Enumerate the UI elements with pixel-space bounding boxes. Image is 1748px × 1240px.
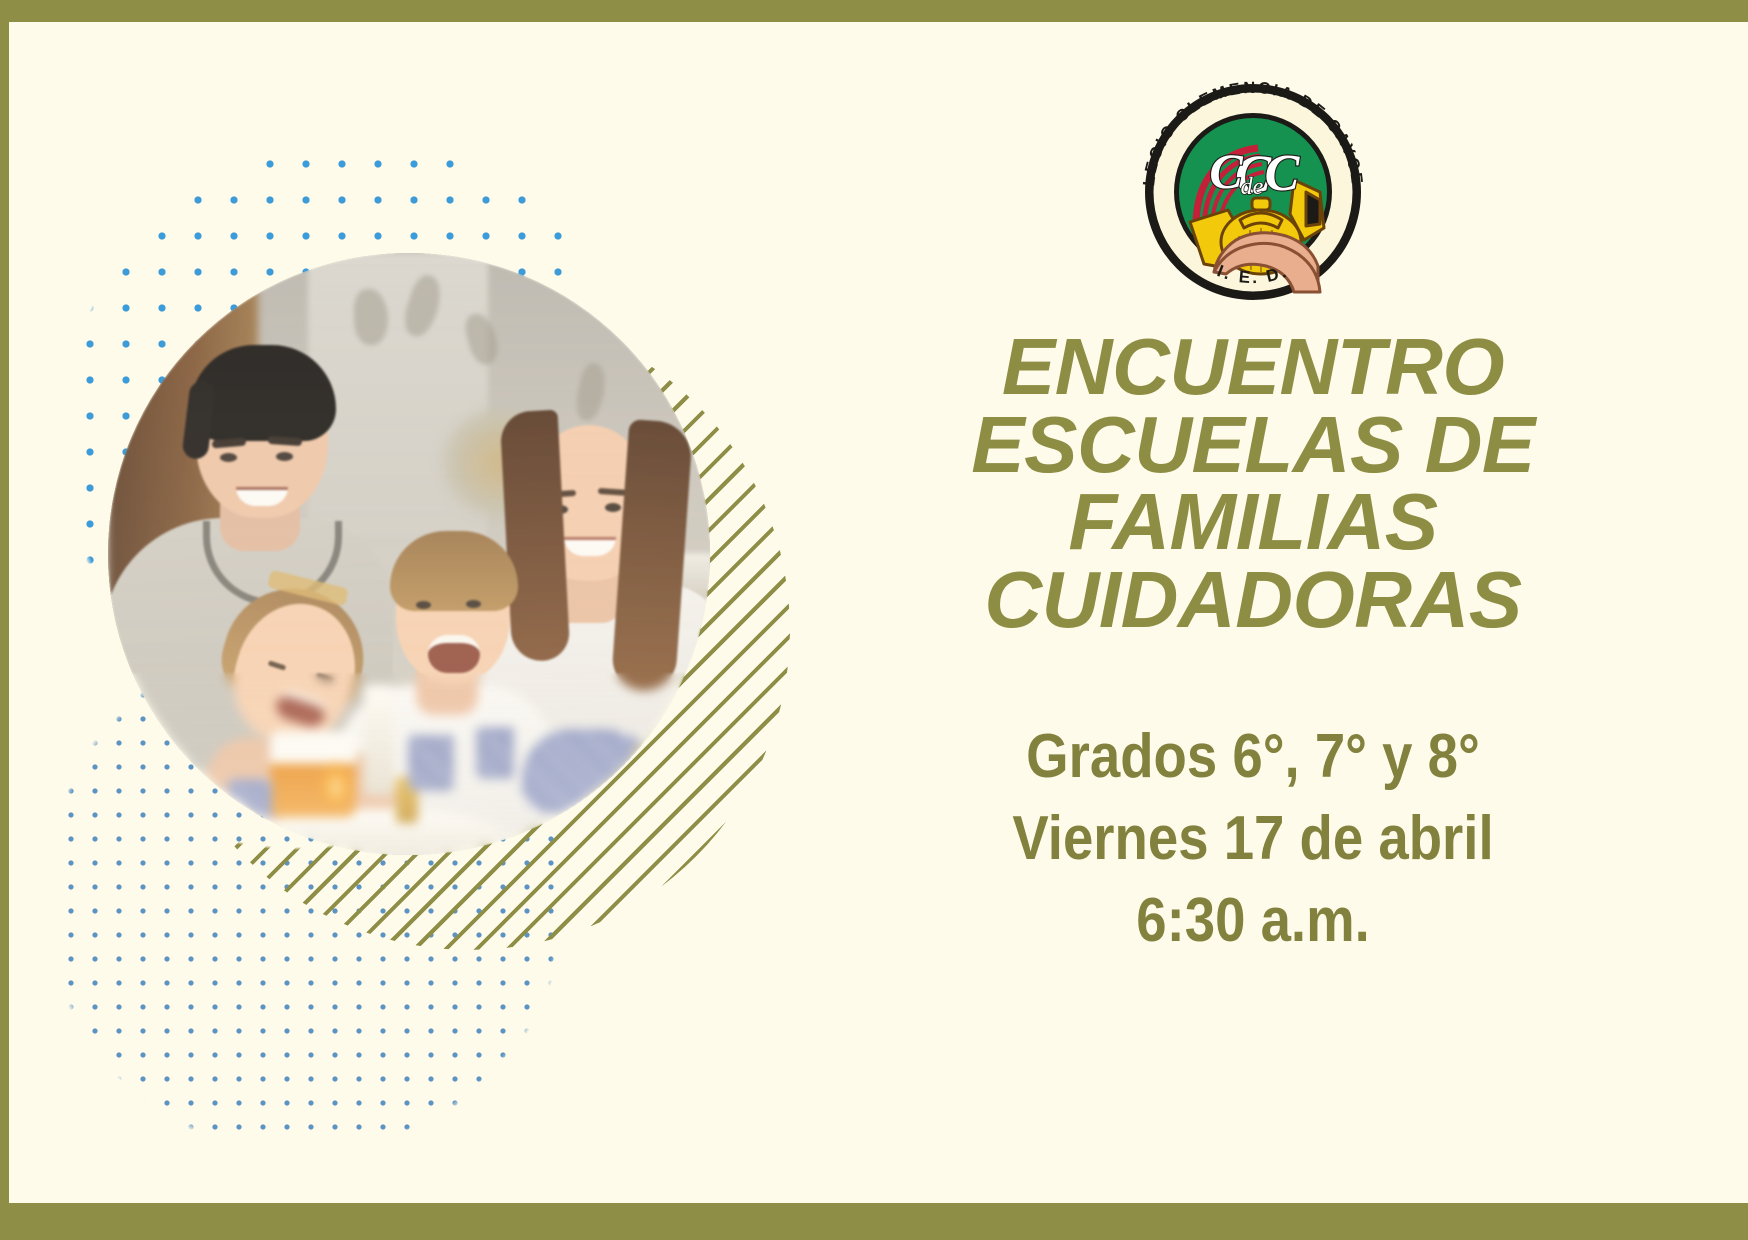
photo-table-cup [408,735,454,791]
title-line-2: ESCUELAS DE [830,406,1676,484]
poster-title: ENCUENTRO ESCUELAS DE FAMILIAS CUIDADORA… [830,328,1676,638]
photo-boy-laugh [428,635,480,673]
svg-text:C: C [1265,145,1301,202]
school-crest-logo: C C de C COLEGIO CLEMENCIA DE CAYCEDO I.… [1118,60,1388,310]
photo-father-eye [276,452,293,461]
content-column: C C de C COLEGIO CLEMENCIA DE CAYCEDO I.… [830,60,1676,962]
photo-boy-eye [416,601,431,609]
poster-details: Grados 6°, 7° y 8° Viernes 17 de abril 6… [830,716,1676,961]
bottom-accent-bar [0,1203,1748,1240]
photo-table-candle [364,685,394,795]
photo-father-eye [220,453,237,462]
title-line-3: FAMILIAS [830,483,1676,561]
top-accent-bar [0,0,1748,22]
detail-time: 6:30 a.m. [881,880,1625,962]
family-photo-scene [108,253,710,855]
photo-table-cup [476,727,514,779]
title-line-4: CUIDADORAS [830,561,1676,639]
title-line-1: ENCUENTRO [830,328,1676,406]
detail-date: Viernes 17 de abril [881,798,1625,880]
svg-text:C: C [1209,143,1243,199]
photo-table-teapot [522,729,654,813]
left-accent-bar [0,22,9,1203]
photo-table-cup [228,779,272,831]
photo-table-candle-flame [318,761,354,805]
crest-monogram: C C de C [1209,143,1300,204]
detail-grades: Grados 6°, 7° y 8° [881,716,1625,798]
svg-text:de: de [1241,174,1264,200]
poster-canvas: C C de C COLEGIO CLEMENCIA DE CAYCEDO I.… [0,0,1748,1240]
photo-boy-eye [466,600,481,608]
family-photo [108,253,710,855]
photo-mother-eye [605,503,621,512]
